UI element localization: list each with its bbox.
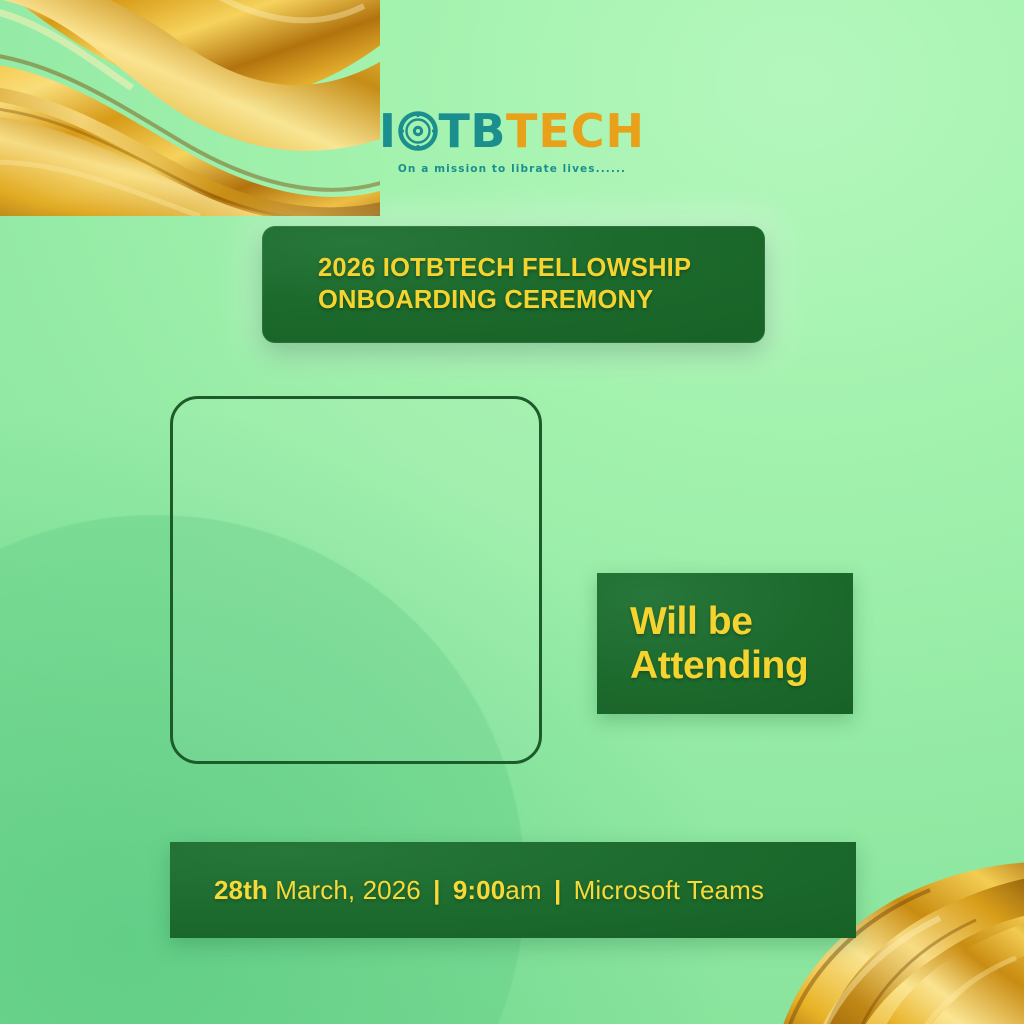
details-separator-1: | xyxy=(428,875,445,905)
logo-tagline: On a mission to librate lives...... xyxy=(398,163,626,175)
attending-line-2: Attending xyxy=(630,644,808,688)
logo-letter-i: I xyxy=(379,108,397,154)
attending-line-1: Will be xyxy=(630,600,753,643)
event-time: 9:00 xyxy=(446,875,506,905)
logo-letters-tb: TB xyxy=(439,108,506,154)
event-details: 28th March, 2026 | 9:00am | Microsoft Te… xyxy=(170,875,764,906)
logo-letters-tech: TECH xyxy=(506,108,645,154)
event-time-suffix: am xyxy=(505,875,549,905)
attending-statement: Will be Attending xyxy=(597,600,808,687)
event-date-day: 28th xyxy=(214,875,268,905)
aperture-circle-icon xyxy=(398,111,438,151)
logo-wordmark: I TB TECH xyxy=(379,108,645,154)
event-title-line-1: 2026 IOTBTECH FELLOWSHIP xyxy=(318,254,691,282)
flyer-canvas: I TB TECH On a mission to l xyxy=(0,0,1024,1024)
event-platform: Microsoft Teams xyxy=(566,875,764,905)
photo-placeholder-frame xyxy=(170,396,542,764)
event-title: 2026 IOTBTECH FELLOWSHIP ONBOARDING CERE… xyxy=(262,253,691,315)
event-title-banner: 2026 IOTBTECH FELLOWSHIP ONBOARDING CERE… xyxy=(262,226,765,343)
details-separator-2: | xyxy=(549,875,566,905)
event-title-line-2: ONBOARDING CEREMONY xyxy=(318,285,691,316)
brand-logo: I TB TECH On a mission to l xyxy=(0,108,1024,175)
attending-statement-box: Will be Attending xyxy=(597,573,853,714)
event-date-month-year: March, 2026 xyxy=(268,875,428,905)
event-details-banner: 28th March, 2026 | 9:00am | Microsoft Te… xyxy=(170,842,856,938)
